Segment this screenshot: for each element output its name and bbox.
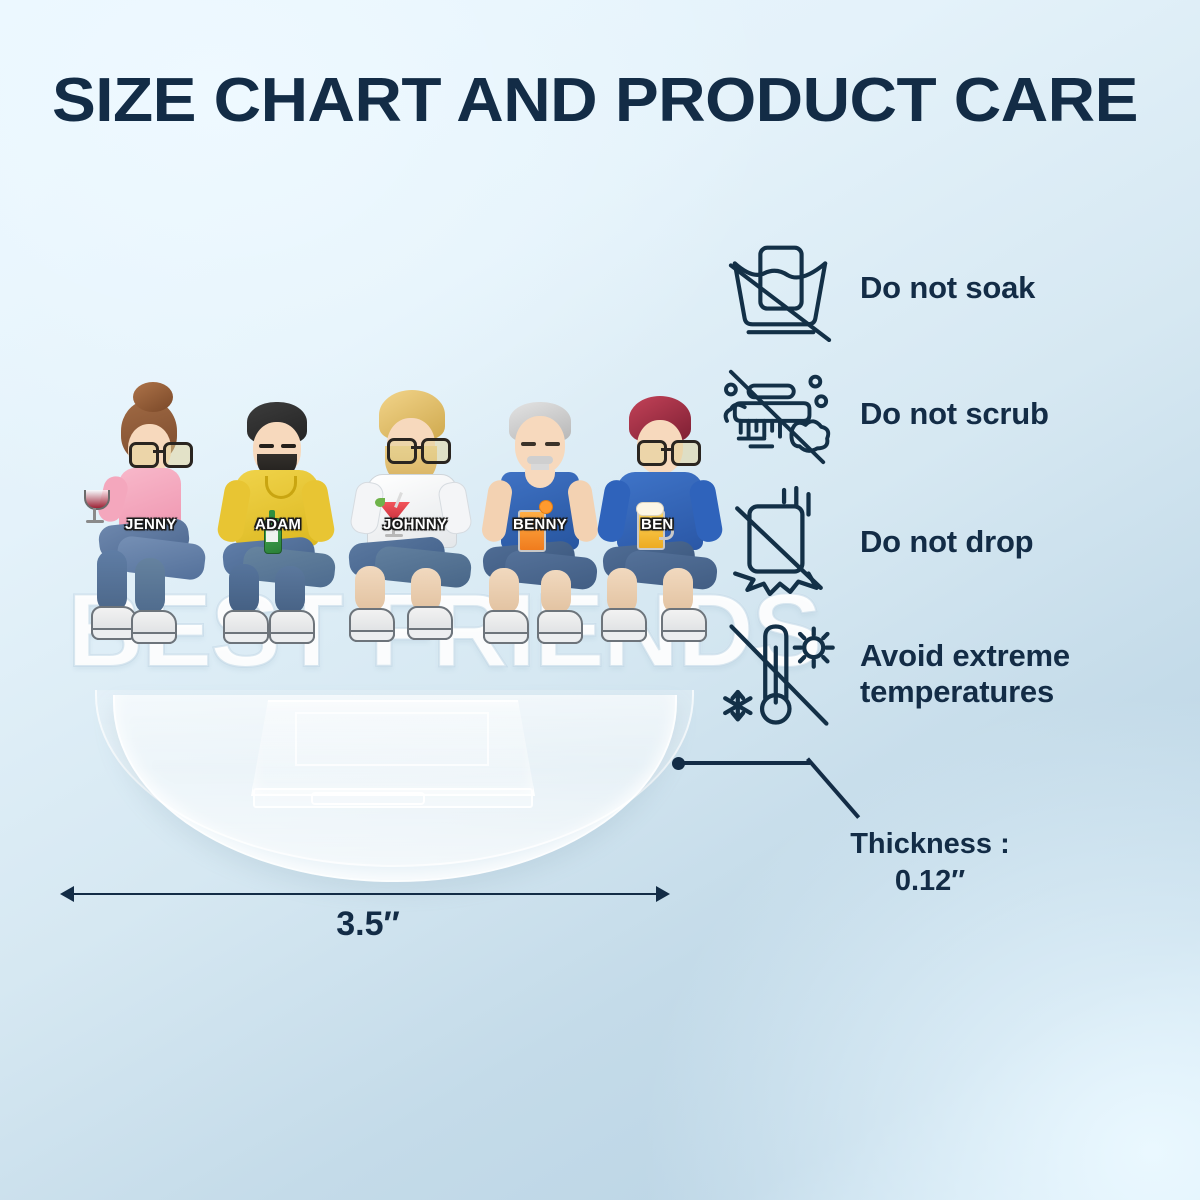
shoe-left xyxy=(223,610,269,644)
character-johnny: JOHNNY xyxy=(337,396,487,648)
thickness-label-text: Thickness : xyxy=(850,828,1010,860)
character-name-adam: ADAM xyxy=(255,516,301,533)
acrylic-stand-lip-inner xyxy=(311,792,425,805)
size-chart-product-care-page: SIZE CHART AND PRODUCT CARE BEST FRIENDS xyxy=(0,0,1200,1200)
dimension-arrow-right xyxy=(656,886,670,902)
glasses-icon xyxy=(387,438,449,460)
shin-right xyxy=(135,558,165,614)
callout-diagonal-line xyxy=(806,757,860,818)
do-not-drop-icon xyxy=(700,487,860,597)
shoe-right xyxy=(269,610,315,644)
do-not-scrub-icon xyxy=(700,359,860,469)
shin-left xyxy=(355,566,385,612)
shoe-right xyxy=(131,610,177,644)
avoid-extreme-temperatures-icon xyxy=(700,619,860,729)
character-name-johnny: JOHNNY xyxy=(383,516,447,533)
shin-left xyxy=(229,564,259,614)
wine-glass-icon xyxy=(81,490,109,530)
shin-left xyxy=(489,568,519,614)
shoe-left xyxy=(483,610,529,644)
thickness-callout-leader xyxy=(672,752,892,822)
shoe-right xyxy=(537,610,583,644)
eyebrow-left xyxy=(259,444,274,448)
callout-horizontal-line xyxy=(680,761,810,765)
care-label-do-not-soak: Do not soak xyxy=(860,270,1035,306)
care-label-do-not-scrub: Do not scrub xyxy=(860,396,1049,432)
eyebrow-right xyxy=(281,444,296,448)
shin-right xyxy=(541,570,571,614)
character-adam: ADAM xyxy=(207,398,347,648)
width-label: 3.5″ xyxy=(68,905,668,944)
shoe-left xyxy=(349,608,395,642)
shin-right xyxy=(275,566,305,614)
shoe-right xyxy=(407,606,453,640)
character-name-benny: BENNY xyxy=(513,516,567,533)
glasses-icon xyxy=(129,442,189,464)
thickness-value: 0.12″ xyxy=(895,865,965,897)
character-jenny: JENNY xyxy=(83,398,213,648)
dimension-line xyxy=(68,893,668,895)
shin-left xyxy=(97,550,127,612)
acrylic-stand-slot-inner xyxy=(295,712,489,766)
hair-bun xyxy=(133,382,173,412)
care-item-do-not-scrub: Do not scrub xyxy=(700,358,1170,470)
mustache xyxy=(527,456,553,464)
shoe-left xyxy=(601,608,647,642)
character-name-ben: BEN xyxy=(641,516,674,533)
character-name-jenny: JENNY xyxy=(125,516,177,533)
product-mockup: BEST FRIENDS JENNY xyxy=(55,300,695,900)
care-label-avoid-extreme-temperatures: Avoid extreme temperatures xyxy=(860,638,1170,710)
care-instructions-list: Do not soak Do not scrub xyxy=(700,232,1170,748)
eyebrow-left xyxy=(521,442,536,446)
page-title: SIZE CHART AND PRODUCT CARE xyxy=(52,70,1200,132)
glasses-icon xyxy=(637,440,699,462)
care-item-do-not-drop: Do not drop xyxy=(700,484,1170,600)
character-benny: BENNY xyxy=(469,398,609,648)
eyebrow-right xyxy=(545,442,560,446)
care-item-avoid-extreme-temperatures: Avoid extreme temperatures xyxy=(700,614,1170,734)
thickness-label: Thickness : 0.12″ xyxy=(800,826,1060,900)
care-label-do-not-drop: Do not drop xyxy=(860,524,1033,560)
care-item-do-not-soak: Do not soak xyxy=(700,232,1170,344)
do-not-soak-icon xyxy=(700,233,860,343)
